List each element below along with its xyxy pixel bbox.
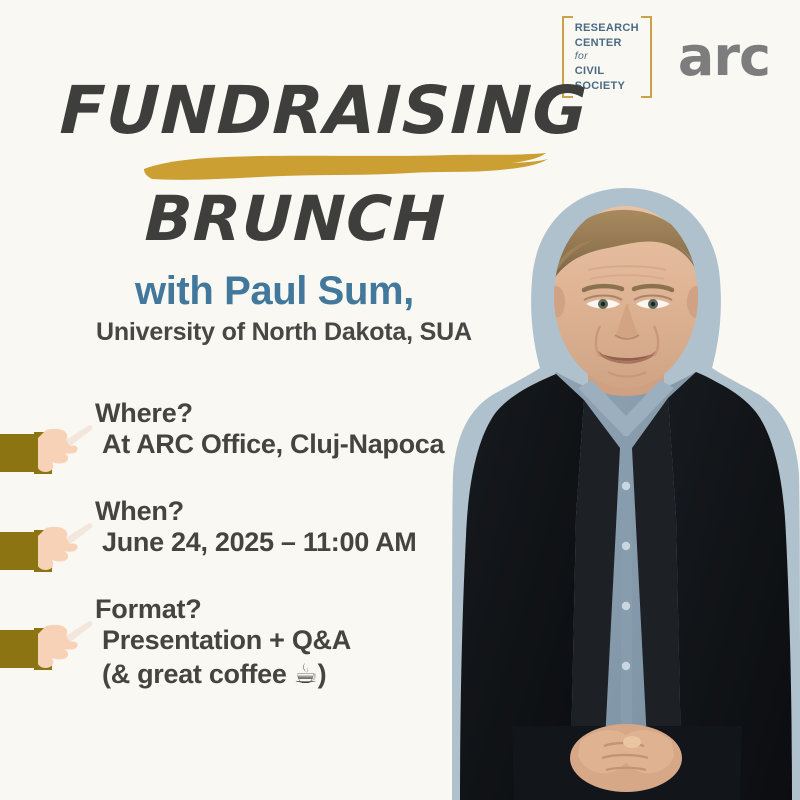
rccs-logo-line-2: CENTER — [575, 36, 639, 51]
rccs-logo-line-1: RESEARCH — [575, 21, 639, 36]
event-details-block: Where? At ARC Office, Cluj-Napoca When? … — [0, 398, 470, 692]
detail-answer-where: At ARC Office, Cluj-Napoca — [95, 428, 444, 462]
logo-bar: RESEARCH CENTER for CIVIL SOCIETY arc — [562, 16, 770, 98]
detail-question-format: Format? — [95, 594, 351, 624]
pointing-hand-icon — [0, 600, 95, 680]
detail-row-when: When? June 24, 2025 – 11:00 AM — [0, 496, 470, 582]
arc-wordmark-logo: arc — [678, 33, 770, 82]
gold-brush-stroke-decoration — [140, 150, 550, 184]
rccs-logo-line-3: for — [575, 50, 639, 64]
detail-row-where: Where? At ARC Office, Cluj-Napoca — [0, 398, 470, 484]
poster-canvas: RESEARCH CENTER for CIVIL SOCIETY arc FU… — [0, 0, 800, 800]
pointing-hand-icon — [0, 502, 95, 582]
detail-row-format: Format? Presentation + Q&A (& great coff… — [0, 594, 470, 692]
detail-answer-format: Presentation + Q&A — [95, 624, 351, 658]
detail-question-when: When? — [95, 496, 417, 526]
event-title-line-1: FUNDRAISING — [59, 78, 541, 144]
detail-answer-format-extra: (& great coffee ☕) — [95, 658, 351, 692]
speaker-portrait — [452, 186, 800, 800]
detail-question-where: Where? — [95, 398, 444, 428]
detail-answer-when: June 24, 2025 – 11:00 AM — [95, 526, 417, 560]
pointing-hand-icon — [0, 404, 95, 484]
detail-text-where: Where? At ARC Office, Cluj-Napoca — [95, 398, 444, 462]
detail-text-when: When? June 24, 2025 – 11:00 AM — [95, 496, 417, 560]
detail-text-format: Format? Presentation + Q&A (& great coff… — [95, 594, 351, 692]
